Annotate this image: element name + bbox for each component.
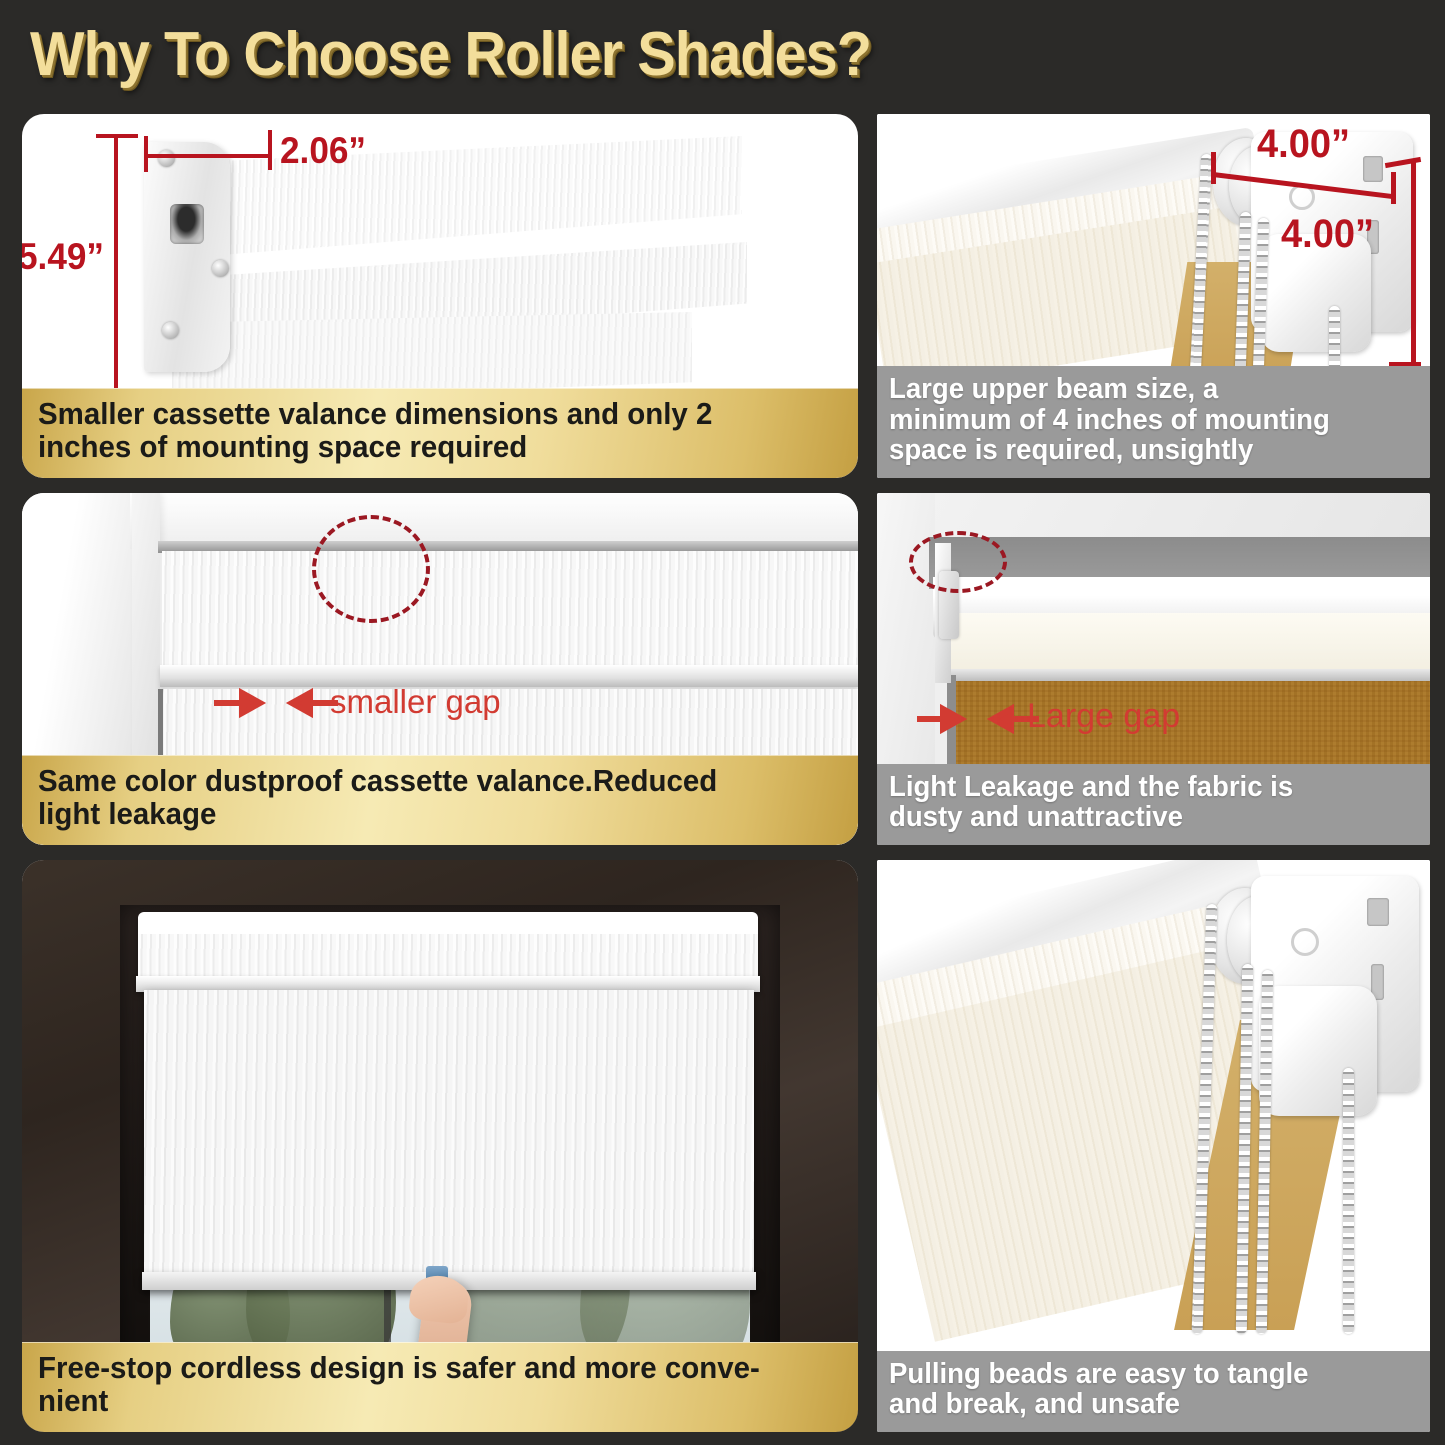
highlight-circle-icon bbox=[909, 531, 1007, 593]
panel-2-caption: Large upper beam size, a minimum of 4 in… bbox=[877, 366, 1430, 478]
panel-5-cordless-design: Free-stop cordless design is safer and m… bbox=[22, 860, 858, 1432]
beam-bottom-edge bbox=[935, 669, 1430, 681]
panel-3-caption: Same color dustproof cassette valance.Re… bbox=[22, 755, 858, 845]
page-header: Why To Choose Roller Shades? bbox=[0, 0, 1445, 108]
smaller-gap-arrows-icon bbox=[212, 683, 342, 723]
height-dim-line bbox=[114, 136, 118, 416]
screw-icon bbox=[212, 260, 229, 277]
beam-height-dim-line bbox=[1411, 160, 1416, 366]
panel-1-caption: Smaller cassette valance dimensions and … bbox=[22, 388, 858, 478]
width-dim-tick-left bbox=[144, 136, 148, 172]
panel-5-caption: Free-stop cordless design is safer and m… bbox=[22, 1342, 858, 1432]
bracket-slot bbox=[1367, 898, 1389, 926]
highlight-circle-icon bbox=[312, 515, 430, 623]
shade-fabric bbox=[144, 990, 754, 1280]
panel-4-caption-line-2: dusty and unattractive bbox=[889, 802, 1393, 833]
panel-4-caption-line-1: Light Leakage and the fabric is bbox=[889, 772, 1393, 803]
mounting-bracket-lower bbox=[1259, 986, 1377, 1116]
panel-6-caption: Pulling beads are easy to tangle and bre… bbox=[877, 1351, 1430, 1432]
beam-face bbox=[937, 613, 1430, 675]
shade-fabric-upper bbox=[162, 551, 858, 669]
page-title: Why To Choose Roller Shades? bbox=[30, 19, 871, 90]
panel-2-caption-line-1: Large upper beam size, a bbox=[889, 374, 1393, 405]
width-dim-line bbox=[146, 154, 270, 158]
valance-end-cap bbox=[144, 142, 230, 372]
panel-1-caption-line-2: inches of mounting space required bbox=[38, 431, 804, 464]
bracket-ring-icon bbox=[1291, 928, 1319, 956]
panel-3-dustproof-valance: smaller gap Same color dustproof cassett… bbox=[22, 493, 858, 845]
screw-icon bbox=[158, 150, 175, 167]
beam-width-label: 4.00” bbox=[1257, 122, 1350, 167]
comparison-grid: 2.06” 5.49” Smaller cassette valance dim… bbox=[0, 108, 1445, 1445]
panel-6-photo bbox=[877, 860, 1430, 1432]
panel-4-caption: Light Leakage and the fabric is dusty an… bbox=[877, 764, 1430, 845]
large-gap-label: Large gap bbox=[1027, 697, 1180, 736]
panel-2-caption-line-2: minimum of 4 inches of mounting bbox=[889, 405, 1393, 436]
cassette-valance-face bbox=[138, 934, 758, 982]
height-dim-tick-top bbox=[96, 134, 138, 138]
beam-width-tick-left bbox=[1211, 152, 1216, 184]
panel-6-pulling-beads: Pulling beads are easy to tangle and bre… bbox=[877, 860, 1430, 1432]
panel-6-caption-line-1: Pulling beads are easy to tangle bbox=[889, 1359, 1393, 1390]
panel-1-caption-line-1: Smaller cassette valance dimensions and … bbox=[38, 398, 804, 431]
panel-4-light-leakage: Large gap Light Leakage and the fabric i… bbox=[877, 493, 1430, 845]
bracket-slot bbox=[1363, 156, 1383, 182]
panel-2-large-upper-beam: 4.00” 4.00” Large upper beam size, a min… bbox=[877, 114, 1430, 478]
panel-3-caption-line-1: Same color dustproof cassette valance.Re… bbox=[38, 765, 804, 798]
smaller-gap-label: smaller gap bbox=[330, 683, 501, 721]
width-dim-tick-right bbox=[268, 130, 272, 170]
panel-5-caption-line-1: Free-stop cordless design is safer and m… bbox=[38, 1352, 804, 1385]
panel-5-caption-line-2: nient bbox=[38, 1385, 804, 1418]
width-dimension-label: 2.06” bbox=[280, 130, 366, 172]
panel-2-caption-line-3: space is required, unsightly bbox=[889, 435, 1393, 466]
beam-height-label: 4.00” bbox=[1281, 212, 1374, 257]
beam-width-tick-right bbox=[1391, 172, 1396, 204]
panel-3-caption-line-2: light leakage bbox=[38, 798, 804, 831]
bead-chain bbox=[1343, 1068, 1354, 1334]
large-gap-arrows-icon bbox=[915, 699, 1043, 739]
height-dimension-label: 5.49” bbox=[22, 236, 104, 278]
screw-icon bbox=[162, 322, 179, 339]
panel-1-smaller-cassette: 2.06” 5.49” Smaller cassette valance dim… bbox=[22, 114, 858, 478]
panel-6-caption-line-2: and break, and unsafe bbox=[889, 1389, 1393, 1420]
